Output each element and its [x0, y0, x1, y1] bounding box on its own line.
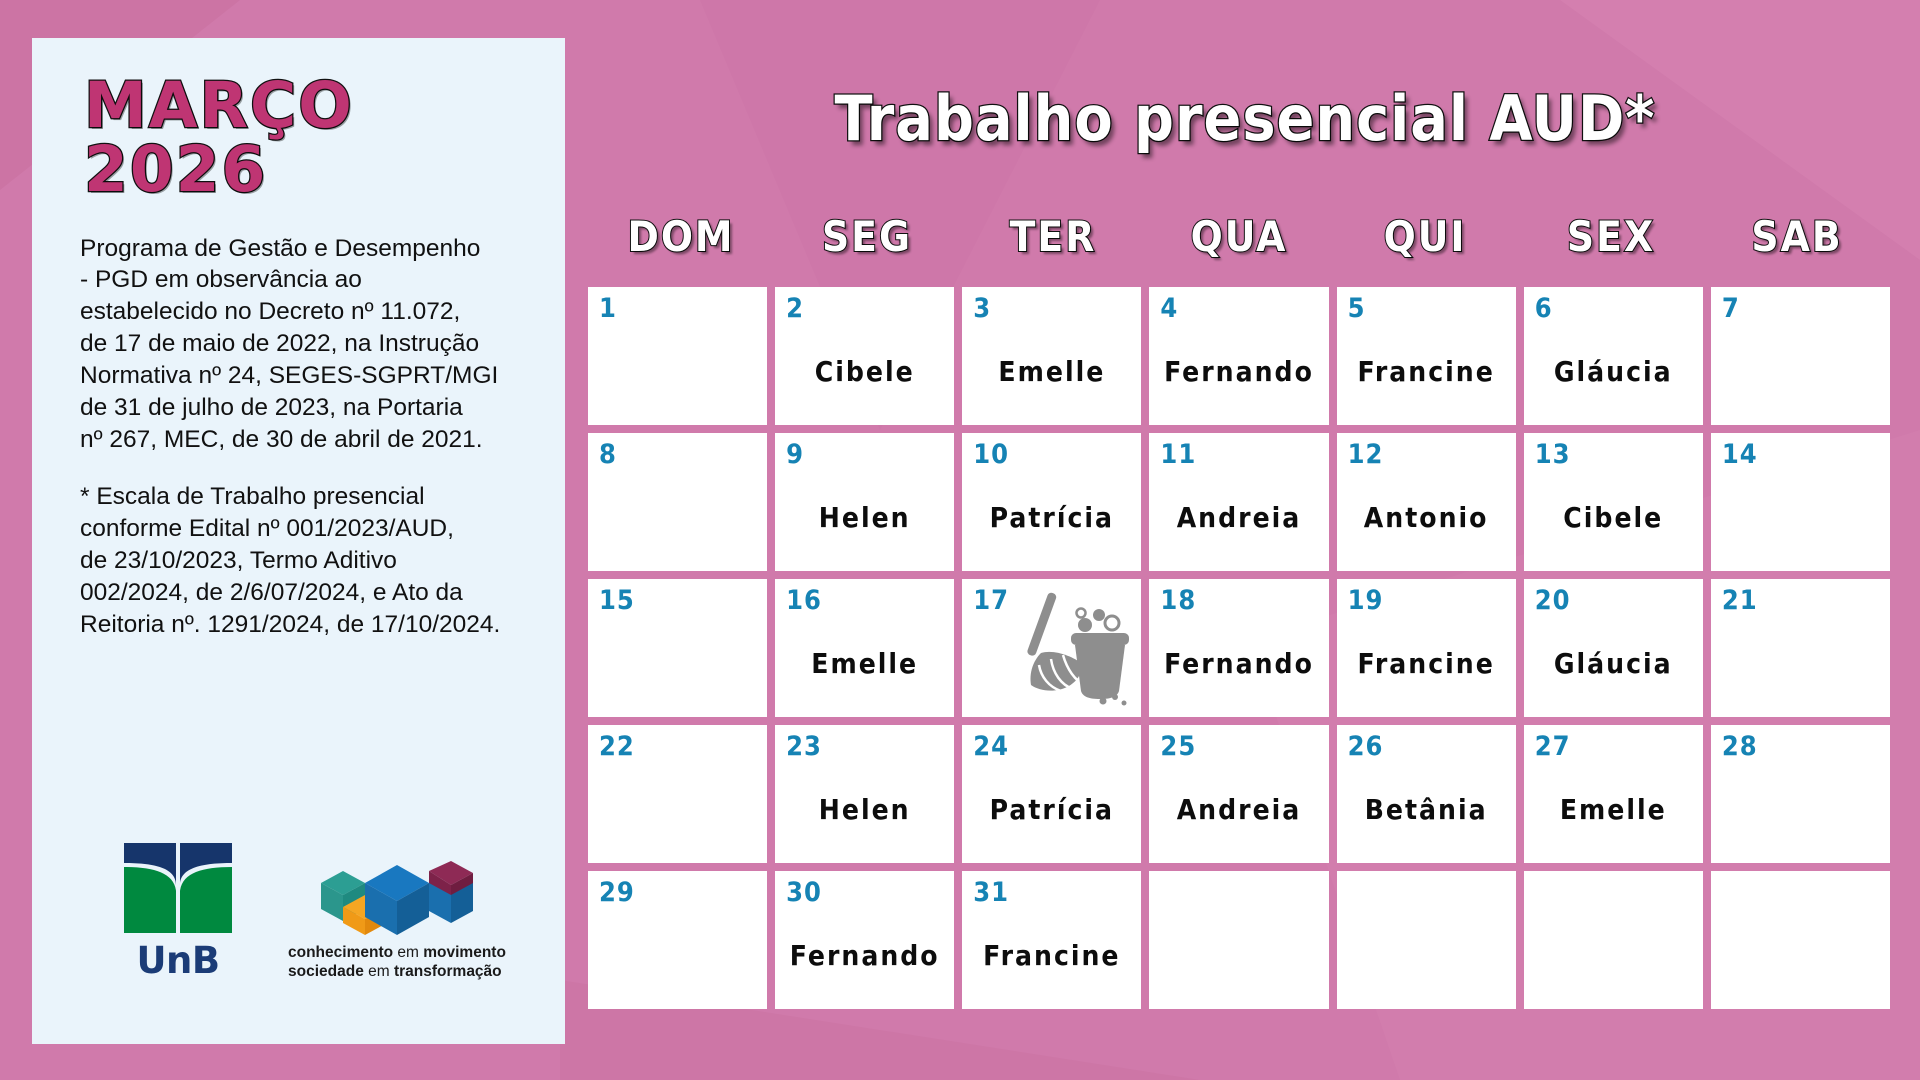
day-number: 10 — [973, 439, 1009, 470]
calendar-day-cell[interactable]: 18Fernando — [1149, 579, 1328, 717]
weekday-label-seg: SEG — [774, 212, 960, 261]
weekday-label-qua: QUA — [1146, 212, 1332, 261]
day-number: 21 — [1722, 585, 1758, 616]
day-number: 26 — [1348, 731, 1384, 762]
calendar-day-cell[interactable]: 26Betânia — [1337, 725, 1516, 863]
calendar-day-cell[interactable]: 2Cibele — [775, 287, 954, 425]
calendar-day-cell[interactable]: 11Andreia — [1149, 433, 1328, 571]
calendar-empty-cell[interactable] — [1337, 871, 1516, 1009]
assigned-person-name: Cibele — [1524, 501, 1703, 534]
calendar-day-cell[interactable]: 14 — [1711, 433, 1890, 571]
calendar-day-cell[interactable]: 16Emelle — [775, 579, 954, 717]
day-number: 22 — [599, 731, 635, 762]
page-title: MARÇO 2026 — [84, 74, 531, 203]
assigned-person-name: Fernando — [1149, 647, 1328, 680]
calendar-day-cell[interactable]: 1 — [588, 287, 767, 425]
calendar-empty-cell[interactable] — [1711, 871, 1890, 1009]
day-number: 9 — [786, 439, 804, 470]
calendar-day-cell[interactable]: 7 — [1711, 287, 1890, 425]
calendar-day-cell[interactable]: 15 — [588, 579, 767, 717]
calendar-day-cell[interactable]: 13Cibele — [1524, 433, 1703, 571]
calendar-day-cell[interactable]: 17 — [962, 579, 1141, 717]
assigned-person-name: Patrícia — [962, 793, 1141, 826]
day-number: 19 — [1348, 585, 1384, 616]
day-number: 30 — [786, 877, 822, 908]
assigned-person-name: Francine — [1337, 355, 1516, 388]
calendar-empty-cell[interactable] — [1524, 871, 1703, 1009]
day-number: 12 — [1348, 439, 1384, 470]
day-number: 31 — [973, 877, 1009, 908]
day-number: 20 — [1535, 585, 1571, 616]
calendar-poster: MARÇO 2026 Programa de Gestão e Desempen… — [0, 0, 1920, 1080]
day-number: 5 — [1348, 293, 1366, 324]
weekday-label-ter: TER — [960, 212, 1146, 261]
unb-emblem-icon — [122, 841, 234, 937]
calendar-day-cell[interactable]: 9Helen — [775, 433, 954, 571]
assigned-person-name: Gláucia — [1524, 355, 1703, 388]
weekday-label-qui: QUI — [1332, 212, 1518, 261]
tagline-connector-2: em — [364, 963, 394, 980]
assigned-person-name: Francine — [1337, 647, 1516, 680]
tagline-connector-1: em — [393, 944, 423, 961]
calendar-day-cell[interactable]: 6Gláucia — [1524, 287, 1703, 425]
calendar-empty-cell[interactable] — [1149, 871, 1328, 1009]
day-number: 24 — [973, 731, 1009, 762]
day-number: 3 — [973, 293, 991, 324]
day-number: 15 — [599, 585, 635, 616]
calendar-day-cell[interactable]: 12Antonio — [1337, 433, 1516, 571]
pgd-description-paragraph: Programa de Gestão e Desempenho - PGD em… — [80, 233, 540, 456]
day-number: 18 — [1160, 585, 1196, 616]
calendar-day-cell[interactable]: 3Emelle — [962, 287, 1141, 425]
day-number: 29 — [599, 877, 635, 908]
day-number: 17 — [973, 585, 1009, 616]
weekday-header-row: DOMSEGTERQUAQUISEXSAB — [588, 212, 1890, 261]
logo-row: UnB — [122, 841, 506, 982]
weekday-label-sex: SEX — [1518, 212, 1704, 261]
day-number: 14 — [1722, 439, 1758, 470]
tagline-word-conhecimento: conhecimento — [288, 944, 393, 961]
escala-footnote-paragraph: * Escala de Trabalho presencial conforme… — [80, 481, 540, 640]
assigned-person-name: Antonio — [1337, 501, 1516, 534]
unb-wordmark: UnB — [136, 939, 219, 982]
weekday-label-sab: SAB — [1704, 212, 1890, 261]
calendar-day-cell[interactable]: 20Gláucia — [1524, 579, 1703, 717]
weekday-label-dom: DOM — [588, 212, 774, 261]
cubes-logo-icon — [313, 861, 481, 939]
assigned-person-name: Cibele — [775, 355, 954, 388]
calendar-day-cell[interactable]: 21 — [1711, 579, 1890, 717]
calendar-heading: Trabalho presencial AUD* — [600, 82, 1890, 155]
calendar-day-cell[interactable]: 5Francine — [1337, 287, 1516, 425]
calendar-day-cell[interactable]: 27Emelle — [1524, 725, 1703, 863]
calendar-day-cell[interactable]: 4Fernando — [1149, 287, 1328, 425]
assigned-person-name: Patrícia — [962, 501, 1141, 534]
tagline-word-transformacao: transformação — [394, 963, 502, 980]
assigned-person-name: Emelle — [775, 647, 954, 680]
assigned-person-name: Betânia — [1337, 793, 1516, 826]
assigned-person-name: Fernando — [1149, 355, 1328, 388]
day-number: 16 — [786, 585, 822, 616]
day-number: 11 — [1160, 439, 1196, 470]
day-number: 2 — [786, 293, 804, 324]
assigned-person-name: Fernando — [775, 939, 954, 972]
info-panel: MARÇO 2026 Programa de Gestão e Desempen… — [32, 38, 565, 1044]
assigned-person-name: Gláucia — [1524, 647, 1703, 680]
day-number: 6 — [1535, 293, 1553, 324]
day-number: 8 — [599, 439, 617, 470]
unb-logo: UnB — [122, 841, 234, 982]
assigned-person-name: Francine — [962, 939, 1141, 972]
month-label: MARÇO — [84, 69, 354, 142]
calendar-grid: 12Cibele3Emelle4Fernando5Francine6Gláuci… — [588, 287, 1890, 1009]
day-number: 4 — [1160, 293, 1178, 324]
day-number: 28 — [1722, 731, 1758, 762]
year-label: 2026 — [84, 138, 531, 202]
calendar-day-cell[interactable]: 28 — [1711, 725, 1890, 863]
assigned-person-name: Andreia — [1149, 501, 1328, 534]
day-number: 27 — [1535, 731, 1571, 762]
day-number: 1 — [599, 293, 617, 324]
calendar-day-cell[interactable]: 10Patrícia — [962, 433, 1141, 571]
cleaning-day-marker — [1011, 587, 1133, 707]
calendar-day-cell[interactable]: 19Francine — [1337, 579, 1516, 717]
tagline-word-sociedade: sociedade — [288, 963, 364, 980]
calendar-day-cell[interactable]: 22 — [588, 725, 767, 863]
assigned-person-name: Helen — [775, 501, 954, 534]
calendar-day-cell[interactable]: 23Helen — [775, 725, 954, 863]
tagline-word-movimento: movimento — [423, 944, 506, 961]
day-number: 13 — [1535, 439, 1571, 470]
calendar-day-cell[interactable]: 24Patrícia — [962, 725, 1141, 863]
assigned-person-name: Emelle — [1524, 793, 1703, 826]
calendar-day-cell[interactable]: 8 — [588, 433, 767, 571]
assigned-person-name: Emelle — [962, 355, 1141, 388]
calendar-day-cell[interactable]: 25Andreia — [1149, 725, 1328, 863]
calendar-day-cell[interactable]: 30Fernando — [775, 871, 954, 1009]
day-number: 23 — [786, 731, 822, 762]
mop-bucket-icon — [1011, 587, 1133, 707]
knowledge-in-motion-tagline: conhecimento em movimento sociedade em t… — [288, 944, 506, 982]
calendar-day-cell[interactable]: 29 — [588, 871, 767, 1009]
assigned-person-name: Andreia — [1149, 793, 1328, 826]
day-number: 25 — [1160, 731, 1196, 762]
calendar-day-cell[interactable]: 31Francine — [962, 871, 1141, 1009]
knowledge-in-motion-logo: conhecimento em movimento sociedade em t… — [288, 861, 506, 982]
assigned-person-name: Helen — [775, 793, 954, 826]
day-number: 7 — [1722, 293, 1740, 324]
